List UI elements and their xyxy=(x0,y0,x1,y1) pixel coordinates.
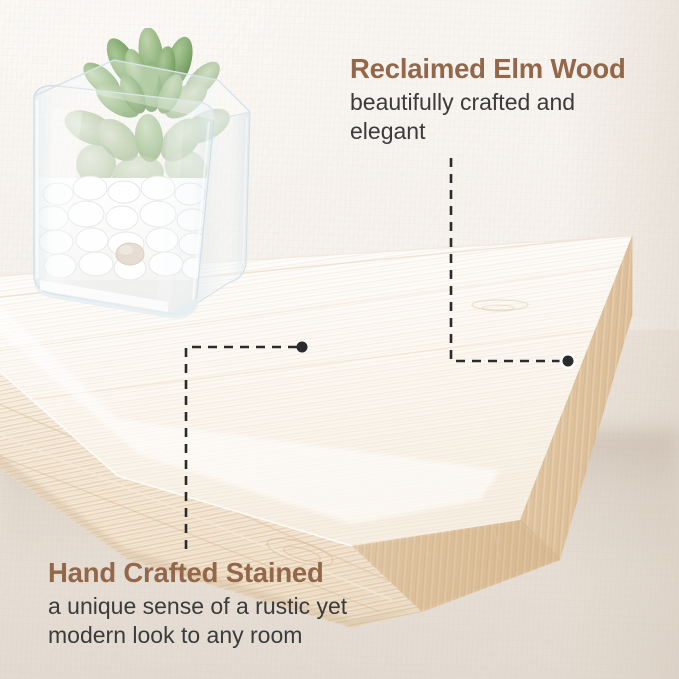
callout-body-hand-crafted-stained: a unique sense of a rustic yet modern lo… xyxy=(48,592,408,650)
callout-title-reclaimed-elm-wood: Reclaimed Elm Wood xyxy=(350,52,675,85)
glass-vase-with-succulent xyxy=(18,28,268,328)
callout-body-line: modern look to any room xyxy=(48,621,408,650)
callout-body-line: a unique sense of a rustic yet xyxy=(48,592,408,621)
callout-body-line: elegant xyxy=(350,117,675,146)
product-infographic-scene: Reclaimed Elm Wood beautifully crafted a… xyxy=(0,0,679,679)
callout-block-hand-crafted-stained: Hand Crafted Stained a unique sense of a… xyxy=(48,556,408,650)
callout-block-reclaimed-elm-wood: Reclaimed Elm Wood beautifully crafted a… xyxy=(350,52,675,146)
callout-title-hand-crafted-stained: Hand Crafted Stained xyxy=(48,556,408,589)
callout-body-reclaimed-elm-wood: beautifully crafted and elegant xyxy=(350,88,675,146)
callout-body-line: beautifully crafted and xyxy=(350,88,675,117)
vase-glass xyxy=(34,60,250,318)
